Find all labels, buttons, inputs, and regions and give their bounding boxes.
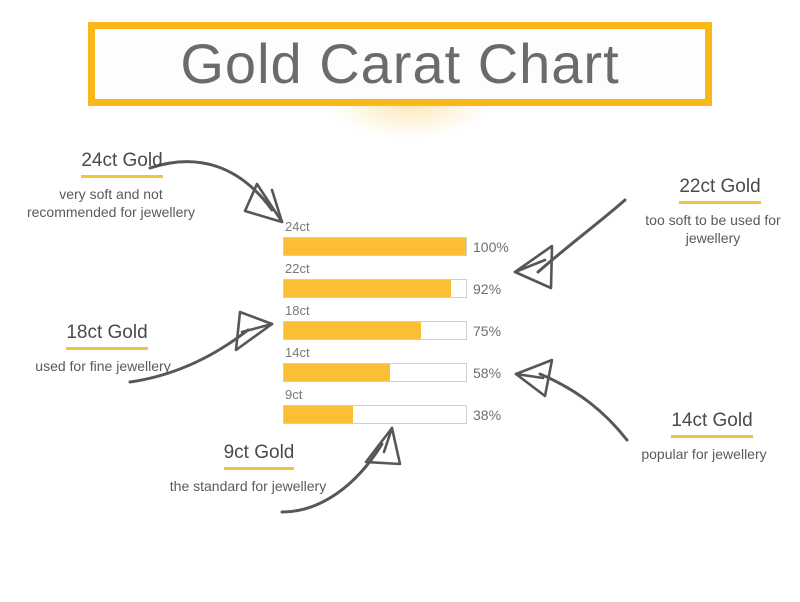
callout-9ct-title: 9ct Gold xyxy=(224,442,295,470)
bar-track xyxy=(283,321,467,340)
title-glow-decoration xyxy=(330,104,490,138)
callout-22ct-body: too soft to be used for jewellery xyxy=(630,211,796,247)
bar-category-label: 18ct xyxy=(285,304,310,318)
bar-value-label: 38% xyxy=(473,407,501,423)
bar-category-label: 22ct xyxy=(285,262,310,276)
callout-18ct-title: 18ct Gold xyxy=(66,322,147,350)
infographic-canvas: Gold Carat Chart xyxy=(0,0,800,602)
bar-value-label: 92% xyxy=(473,281,501,297)
callout-24ct-body: very soft and not recommended for jewell… xyxy=(22,185,200,221)
arrow-14ct xyxy=(516,360,627,440)
callout-14ct-title: 14ct Gold xyxy=(671,410,752,438)
callout-24ct: 24ct Gold very soft and not recommended … xyxy=(22,150,200,221)
bar-fill xyxy=(284,406,353,423)
bar-track xyxy=(283,237,467,256)
callout-14ct: 14ct Gold popular for jewellery xyxy=(628,410,780,463)
bar-category-label: 14ct xyxy=(285,346,310,360)
bar-row: 22ct 92% xyxy=(283,262,473,304)
bar-fill xyxy=(284,364,390,381)
callout-9ct: 9ct Gold the standard for jewellery xyxy=(163,442,333,495)
bar-category-label: 24ct xyxy=(285,220,310,234)
bar-category-label: 9ct xyxy=(285,388,302,402)
callout-18ct: 18ct Gold used for fine jewellery xyxy=(28,322,178,375)
bar-track xyxy=(283,405,467,424)
bar-row: 24ct 100% xyxy=(283,220,473,262)
callout-14ct-body: popular for jewellery xyxy=(628,445,780,463)
bar-fill xyxy=(284,280,451,297)
bar-value-label: 100% xyxy=(473,239,509,255)
arrow-22ct xyxy=(515,200,625,288)
callout-24ct-title: 24ct Gold xyxy=(81,150,162,178)
callout-22ct: 22ct Gold too soft to be used for jewell… xyxy=(630,176,796,247)
title-box: Gold Carat Chart xyxy=(88,22,712,106)
bar-row: 14ct 58% xyxy=(283,346,473,388)
bar-value-label: 75% xyxy=(473,323,501,339)
bar-track xyxy=(283,363,467,382)
bar-fill xyxy=(284,322,421,339)
bar-value-label: 58% xyxy=(473,365,501,381)
callout-22ct-title: 22ct Gold xyxy=(679,176,760,204)
callout-18ct-body: used for fine jewellery xyxy=(28,357,178,375)
bar-track xyxy=(283,279,467,298)
bar-row: 9ct 38% xyxy=(283,388,473,430)
bar-fill xyxy=(284,238,466,255)
bar-row: 18ct 75% xyxy=(283,304,473,346)
page-title: Gold Carat Chart xyxy=(180,36,619,92)
bar-chart: 24ct 100% 22ct 92% 18ct 75% 14ct xyxy=(283,220,473,430)
callout-9ct-body: the standard for jewellery xyxy=(163,477,333,495)
